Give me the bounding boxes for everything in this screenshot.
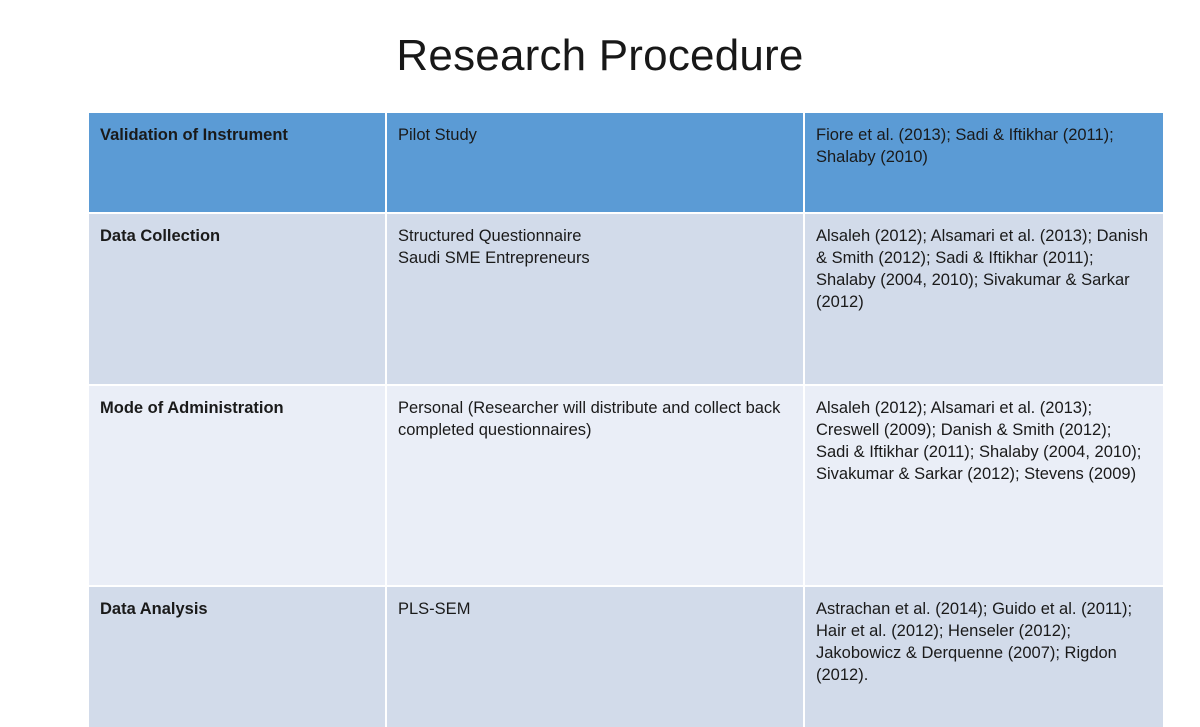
reference-line: Alsaleh (2012); Alsamari et al. (2013); … <box>816 226 1152 314</box>
table-cell-references: Alsaleh (2012); Alsamari et al. (2013); … <box>804 213 1163 385</box>
detail-line: Saudi SME Entrepreneurs <box>398 248 792 270</box>
slide-canvas: Research Procedure Validation of Instrum… <box>0 0 1200 675</box>
detail-line: Pilot Study <box>398 125 792 147</box>
stage-label: Mode of Administration <box>100 399 284 417</box>
reference-line: Alsaleh (2012); Alsamari et al. (2013); … <box>816 398 1152 442</box>
table-cell-references: Fiore et al. (2013); Sadi & Iftikhar (20… <box>804 113 1163 213</box>
detail-line: Structured Questionnaire <box>398 226 792 248</box>
table-row: Validation of Instrument Pilot Study Fio… <box>89 113 1163 213</box>
table-cell-stage: Validation of Instrument <box>89 113 386 213</box>
stage-label: Data Collection <box>100 227 220 245</box>
table-cell-detail: Personal (Researcher will distribute and… <box>386 385 804 586</box>
table-row: Mode of Administration Personal (Researc… <box>89 385 1163 586</box>
research-procedure-table: Validation of Instrument Pilot Study Fio… <box>89 113 1163 727</box>
detail-line: PLS-SEM <box>398 599 792 621</box>
stage-label: Data Analysis <box>100 600 208 618</box>
table-cell-references: Alsaleh (2012); Alsamari et al. (2013); … <box>804 385 1163 586</box>
table-cell-stage: Data Analysis <box>89 586 386 727</box>
table-cell-stage: Mode of Administration <box>89 385 386 586</box>
detail-line: Personal (Researcher will distribute and… <box>398 398 792 442</box>
table-row: Data Collection Structured Questionnaire… <box>89 213 1163 385</box>
page-title: Research Procedure <box>0 32 1200 80</box>
table-row: Data Analysis PLS-SEM Astrachan et al. (… <box>89 586 1163 727</box>
table-cell-detail: Structured Questionnaire Saudi SME Entre… <box>386 213 804 385</box>
table-cell-stage: Data Collection <box>89 213 386 385</box>
table-cell-references: Astrachan et al. (2014); Guido et al. (2… <box>804 586 1163 727</box>
table-cell-detail: PLS-SEM <box>386 586 804 727</box>
stage-label: Validation of Instrument <box>100 126 288 144</box>
reference-line: Fiore et al. (2013); Sadi & Iftikhar (20… <box>816 125 1152 169</box>
reference-line: Astrachan et al. (2014); Guido et al. (2… <box>816 599 1152 687</box>
table-cell-detail: Pilot Study <box>386 113 804 213</box>
reference-line: Sadi & Iftikhar (2011); Shalaby (2004, 2… <box>816 442 1152 486</box>
